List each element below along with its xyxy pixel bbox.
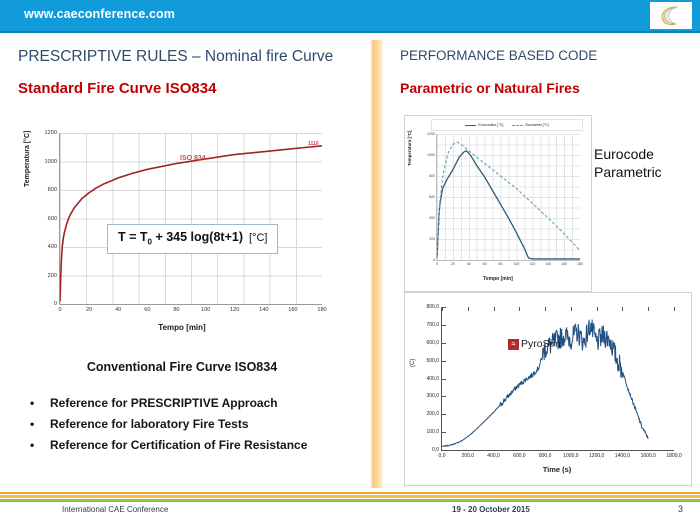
parametric-x-tick: 100 bbox=[513, 262, 519, 266]
pyrosim-x-tick: 1600,0 bbox=[641, 453, 656, 459]
pyrosim-x-axis-label: Time (s) bbox=[441, 465, 673, 474]
iso834-x-tick: 140 bbox=[259, 307, 268, 313]
bullet-label: Reference for Certification of Fire Resi… bbox=[50, 438, 307, 452]
parametric-fire-chart: Eurocodice [°C] Bucharest [°C] Temperatu… bbox=[404, 115, 592, 292]
pyrosim-x-tick: 0,0 bbox=[439, 453, 446, 459]
pyrosim-x-tick: 1400,0 bbox=[615, 453, 630, 459]
bullet-glyph-icon: • bbox=[30, 438, 34, 452]
pyrosim-y-tick: 200,0 bbox=[426, 411, 439, 417]
pyrosim-y-tick: 700,0 bbox=[426, 322, 439, 328]
pyrosim-x-tick: 800,0 bbox=[539, 453, 552, 459]
iso834-y-tick: 400 bbox=[48, 244, 57, 250]
pyrosim-x-tickmark bbox=[674, 307, 675, 311]
parametric-x-tick: 140 bbox=[545, 262, 551, 266]
parametric-x-tick: 60 bbox=[483, 262, 487, 266]
eurocode-parametric-note: Eurocode Parametric bbox=[594, 145, 662, 182]
conference-url: www.caeconference.com bbox=[24, 7, 175, 21]
parametric-y-tick: 0 bbox=[433, 258, 435, 262]
parametric-curves bbox=[437, 134, 580, 260]
iso834-plot-area: 020040060080010001200 020406080100120140… bbox=[59, 133, 322, 305]
footer-page-number: 3 bbox=[678, 504, 683, 514]
conference-logo-icon bbox=[658, 5, 684, 27]
pyrosim-watermark-label: PyroSim bbox=[521, 338, 561, 350]
parametric-y-tick: 1200 bbox=[427, 132, 435, 136]
legend-entry-bucharest: Bucharest [°C] bbox=[512, 123, 548, 127]
parametric-x-tick: 0 bbox=[436, 262, 438, 266]
pyrosim-y-axis-label: (C) bbox=[410, 359, 416, 367]
iso834-y-tick: 800 bbox=[48, 187, 57, 193]
equation-lhs: T = T bbox=[118, 230, 148, 244]
pyrosim-plot-area: 0,0100,0200,0300,0400,0500,0600,0700,080… bbox=[441, 307, 674, 451]
legend-entry-eurocodice: Eurocodice [°C] bbox=[465, 123, 503, 127]
iso834-x-tick: 160 bbox=[288, 307, 297, 313]
pyrosim-chart: (C) Time (s) 0,0100,0200,0300,0400,0500,… bbox=[404, 292, 692, 486]
iso834-x-tick: 60 bbox=[144, 307, 150, 313]
iso834-y-tick: 600 bbox=[48, 216, 57, 222]
pyrosim-y-tick: 100,0 bbox=[426, 429, 439, 435]
footer-rule-green bbox=[0, 499, 700, 502]
parametric-x-tick: 40 bbox=[467, 262, 471, 266]
footer-rule-orange bbox=[0, 492, 700, 494]
bullet-glyph-icon: • bbox=[30, 417, 34, 431]
equation-unit: [°C] bbox=[249, 232, 267, 244]
iso834-y-tick: 1000 bbox=[45, 159, 57, 165]
iso834-y-axis-label: Temperatura [°C] bbox=[24, 131, 31, 187]
bullet-label: Reference for PRESCRIPTIVE Approach bbox=[50, 396, 278, 410]
parametric-y-tick: 600 bbox=[429, 195, 435, 199]
parametric-legend: Eurocodice [°C] Bucharest [°C] bbox=[431, 119, 583, 131]
left-column-subtitle: Standard Fire Curve ISO834 bbox=[18, 80, 216, 97]
bullet-item: •Reference for laboratory Fire Tests bbox=[24, 417, 360, 431]
iso834-x-tick: 40 bbox=[115, 307, 121, 313]
iso834-x-tick: 20 bbox=[86, 307, 92, 313]
prescriptive-bullet-list: •Reference for PRESCRIPTIVE Approach•Ref… bbox=[24, 396, 360, 459]
iso834-x-tick: 0 bbox=[58, 307, 61, 313]
pyrosim-x-tick: 400,0 bbox=[487, 453, 500, 459]
pyrosim-y-tick: 400,0 bbox=[426, 376, 439, 382]
iso834-y-tick: 200 bbox=[48, 273, 57, 279]
pyrosim-logo-icon: ≈ bbox=[508, 339, 519, 350]
parametric-y-tick: 800 bbox=[429, 174, 435, 178]
parametric-x-tick: 80 bbox=[499, 262, 503, 266]
bullet-label: Reference for laboratory Fire Tests bbox=[50, 417, 249, 431]
parametric-x-tick: 160 bbox=[561, 262, 567, 266]
iso834-chart: Temperatura [°C] Tempo [min] 02004006008… bbox=[26, 125, 338, 343]
parametric-y-axis-label: Temperatura [°C] bbox=[407, 131, 412, 166]
parametric-x-tick: 120 bbox=[529, 262, 535, 266]
conference-logo bbox=[650, 2, 692, 29]
iso834-x-tick: 180 bbox=[317, 307, 326, 313]
iso834-x-axis-label: Tempo [min] bbox=[26, 323, 338, 332]
bullet-glyph-icon: • bbox=[30, 396, 34, 410]
parametric-y-tick: 1000 bbox=[427, 153, 435, 157]
pyrosim-y-tick: 300,0 bbox=[426, 393, 439, 399]
legend-swatch-dashed-icon bbox=[512, 125, 523, 126]
parametric-y-tick: 200 bbox=[429, 237, 435, 241]
right-column-subtitle: Parametric or Natural Fires bbox=[400, 80, 580, 96]
bullet-item: •Reference for PRESCRIPTIVE Approach bbox=[24, 396, 360, 410]
footer-date: 19 - 20 October 2015 bbox=[452, 505, 530, 514]
iso834-equation-box: T = T0 + 345 log(8t+1)[°C] bbox=[107, 224, 278, 254]
iso834-endpoint-label: 1110 bbox=[308, 141, 319, 147]
iso834-y-tick: 1200 bbox=[45, 130, 57, 136]
parametric-x-tick: 20 bbox=[451, 262, 455, 266]
iso834-x-tick: 120 bbox=[230, 307, 239, 313]
pyrosim-x-tick: 200,0 bbox=[462, 453, 475, 459]
pyrosim-x-tick: 1000,0 bbox=[563, 453, 578, 459]
parametric-x-axis-label: Tempo [min] bbox=[405, 276, 591, 282]
pyrosim-x-tick: 600,0 bbox=[513, 453, 526, 459]
pyrosim-temperature-curve bbox=[442, 307, 674, 450]
legend-swatch-solid-icon bbox=[465, 125, 476, 126]
parametric-y-tick: 400 bbox=[429, 216, 435, 220]
iso834-y-tick: 0 bbox=[54, 301, 57, 307]
top-bar-underline bbox=[0, 31, 700, 33]
left-column-title: PRESCRIPTIVE RULES – Nominal fire Curve bbox=[18, 48, 333, 66]
bullet-item: •Reference for Certification of Fire Res… bbox=[24, 438, 360, 452]
footer-conference-name: International CAE Conference bbox=[62, 505, 168, 514]
eurocode-note-line1: Eurocode bbox=[594, 145, 662, 163]
footer-rule-amber bbox=[0, 495, 700, 498]
pyrosim-x-tick: 1200,0 bbox=[589, 453, 604, 459]
iso834-x-tick: 100 bbox=[201, 307, 210, 313]
column-divider bbox=[370, 40, 384, 488]
legend-label-bucharest: Bucharest [°C] bbox=[525, 123, 548, 127]
pyrosim-watermark: ≈ PyroSim bbox=[508, 338, 561, 350]
parametric-x-tick: 180 bbox=[577, 262, 583, 266]
pyrosim-y-tick: 600,0 bbox=[426, 340, 439, 346]
parametric-plot-area: 020040060080010001200 020406080100120140… bbox=[436, 134, 580, 261]
iso834-caption: Conventional Fire Curve ISO834 bbox=[0, 360, 364, 374]
right-column-title: PERFORMANCE BASED CODE bbox=[400, 48, 597, 63]
equation-rhs: + 345 log(8t+1) bbox=[152, 230, 243, 244]
eurocode-note-line2: Parametric bbox=[594, 163, 662, 181]
pyrosim-y-tickmark bbox=[442, 450, 446, 451]
legend-label-eurocodice: Eurocodice [°C] bbox=[478, 123, 503, 127]
pyrosim-y-tick: 800,0 bbox=[426, 304, 439, 310]
pyrosim-y-tick: 500,0 bbox=[426, 358, 439, 364]
pyrosim-x-tick: 1800,0 bbox=[666, 453, 681, 459]
iso834-x-tick: 80 bbox=[173, 307, 179, 313]
iso834-series-label: ISO 834 bbox=[180, 155, 206, 162]
